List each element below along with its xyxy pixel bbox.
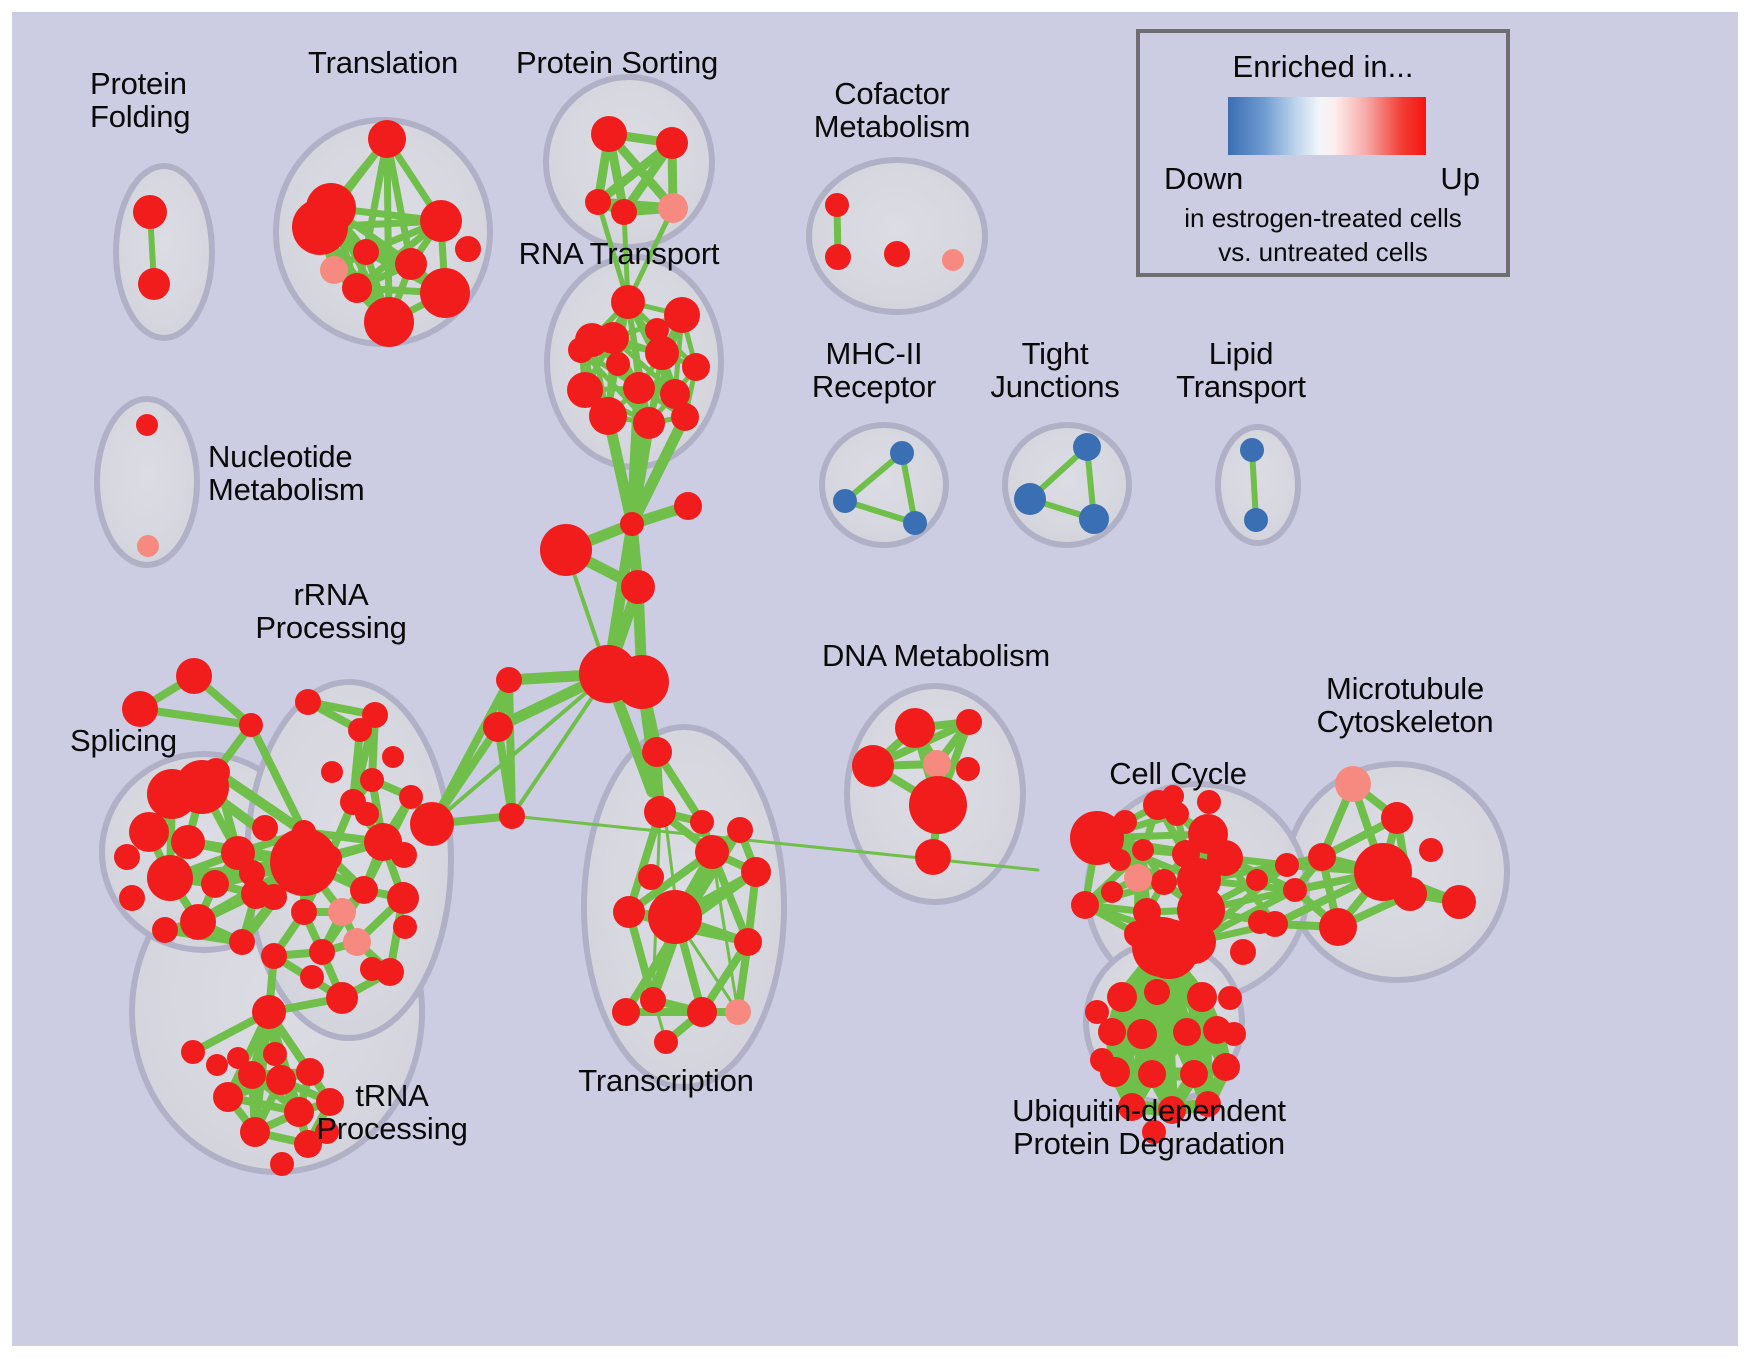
node: [252, 815, 278, 841]
node: [658, 193, 688, 223]
node: [1218, 986, 1242, 1010]
cluster-label-rna-transport: RNA Transport: [519, 237, 720, 270]
node: [915, 839, 951, 875]
node: [1275, 853, 1299, 877]
node: [1124, 864, 1152, 892]
node: [1014, 483, 1046, 515]
node: [1071, 891, 1099, 919]
node: [252, 995, 286, 1029]
node: [410, 802, 454, 846]
cluster-label-splicing: Splicing: [70, 724, 177, 757]
node: [727, 817, 753, 843]
node: [591, 116, 627, 152]
node: [640, 987, 666, 1013]
node: [137, 535, 159, 557]
node: [1101, 881, 1123, 903]
node: [1090, 1048, 1114, 1072]
node: [176, 658, 212, 694]
node: [1073, 433, 1101, 461]
node: [1144, 979, 1170, 1005]
node: [263, 1042, 287, 1066]
node: [1107, 982, 1137, 1012]
node: [1132, 917, 1192, 977]
node: [611, 199, 637, 225]
node: [656, 127, 688, 159]
node: [136, 414, 158, 436]
node: [129, 812, 169, 852]
node: [213, 1082, 243, 1112]
node: [355, 802, 379, 826]
node: [884, 241, 910, 267]
node: [455, 236, 481, 262]
node: [284, 1097, 314, 1127]
node: [1197, 790, 1221, 814]
node: [833, 489, 857, 513]
node: [612, 998, 640, 1026]
node: [152, 917, 178, 943]
node: [343, 928, 371, 956]
node: [645, 318, 669, 342]
node: [1151, 869, 1177, 895]
node: [606, 352, 630, 376]
cluster-label-dna-metabolism: DNA Metabolism: [822, 639, 1050, 672]
node: [890, 441, 914, 465]
node: [309, 939, 335, 965]
node: [664, 912, 694, 942]
node: [387, 882, 419, 914]
node: [1393, 877, 1427, 911]
node: [119, 885, 145, 911]
node: [741, 857, 771, 887]
node: [1079, 504, 1109, 534]
node: [613, 896, 645, 928]
node: [642, 737, 672, 767]
node: [1319, 908, 1357, 946]
node: [353, 239, 379, 265]
node: [391, 842, 417, 868]
node: [360, 768, 384, 792]
cluster-label-cofactor-metabolism: Cofactor Metabolism: [814, 77, 971, 144]
node: [364, 297, 414, 347]
node: [483, 712, 513, 742]
cluster-label-transcription: Transcription: [578, 1064, 753, 1097]
node: [1244, 508, 1268, 532]
node: [956, 709, 982, 735]
legend-box: Enriched in... Down Up in estrogen-treat…: [1136, 29, 1510, 277]
node: [568, 337, 594, 363]
node: [382, 746, 404, 768]
node: [1085, 1000, 1109, 1024]
node: [611, 285, 645, 319]
edges-hub-to-rrna: [432, 680, 512, 824]
node: [328, 898, 356, 926]
hull-protein-folding: [116, 166, 212, 338]
node: [360, 957, 384, 981]
node: [1127, 1019, 1157, 1049]
node: [654, 1030, 678, 1054]
node: [295, 689, 321, 715]
legend-subtitle-line2: vs. untreated cells: [1140, 237, 1506, 268]
node: [292, 199, 348, 255]
node: [1187, 982, 1217, 1012]
node: [690, 810, 714, 834]
node: [825, 244, 851, 270]
node: [227, 1047, 249, 1069]
cluster-label-protein-folding: Protein Folding: [90, 67, 190, 134]
node: [852, 745, 894, 787]
network-canvas: Protein Folding Translation Protein Sort…: [12, 12, 1738, 1346]
node: [201, 870, 229, 898]
node: [1246, 869, 1268, 891]
node: [320, 256, 348, 284]
node: [368, 120, 406, 158]
node: [1109, 849, 1131, 871]
node: [206, 1054, 228, 1076]
node: [261, 884, 287, 910]
legend-title: Enriched in...: [1140, 49, 1506, 85]
node: [133, 195, 167, 229]
node: [138, 268, 170, 300]
node: [1173, 1018, 1201, 1046]
node: [923, 750, 951, 778]
node: [1240, 438, 1264, 462]
node: [350, 876, 378, 904]
node: [734, 928, 762, 956]
node: [229, 929, 255, 955]
node: [180, 904, 216, 940]
node: [1442, 885, 1476, 919]
node: [956, 757, 980, 781]
node: [540, 524, 592, 576]
node: [1138, 1060, 1166, 1088]
node: [270, 1152, 294, 1176]
cluster-label-tight-junctions: Tight Junctions: [990, 337, 1119, 404]
node: [1113, 810, 1137, 834]
node: [1222, 1022, 1246, 1046]
node: [342, 273, 372, 303]
node: [825, 193, 849, 217]
node: [291, 899, 317, 925]
node: [1180, 1060, 1208, 1088]
node: [496, 667, 522, 693]
node: [615, 655, 669, 709]
node: [725, 999, 751, 1025]
node: [393, 915, 417, 939]
node: [114, 844, 140, 870]
legend-down-label: Down: [1164, 161, 1243, 197]
node: [1335, 766, 1371, 802]
node: [239, 860, 265, 886]
node: [499, 803, 525, 829]
node: [420, 200, 462, 242]
node: [1132, 839, 1154, 861]
node: [181, 1040, 205, 1064]
node: [623, 372, 655, 404]
node: [1419, 838, 1443, 862]
figure-root: Protein Folding Translation Protein Sort…: [0, 0, 1750, 1360]
cluster-label-mhc-ii-receptor: MHC-II Receptor: [812, 337, 936, 404]
node: [261, 943, 287, 969]
node: [175, 760, 229, 814]
node: [420, 268, 470, 318]
node: [585, 189, 611, 215]
node: [399, 785, 423, 809]
cluster-label-rrna-processing: rRNA Processing: [255, 578, 406, 645]
node: [682, 353, 710, 381]
node: [597, 322, 629, 354]
cluster-label-nucleotide-metabolism: Nucleotide Metabolism: [208, 440, 365, 507]
cluster-label-cell-cycle: Cell Cycle: [1109, 757, 1247, 790]
node: [674, 492, 702, 520]
node: [638, 864, 664, 890]
node: [266, 1065, 296, 1095]
node: [620, 512, 644, 536]
node: [664, 297, 700, 333]
node: [300, 965, 324, 989]
node: [895, 708, 935, 748]
node: [695, 835, 729, 869]
cluster-label-trna-processing: tRNA Processing: [316, 1079, 467, 1146]
cluster-label-microtubule-cytoskeleton: Microtubule Cytoskeleton: [1317, 672, 1494, 739]
node: [321, 761, 343, 783]
node: [589, 397, 627, 435]
node: [1381, 802, 1413, 834]
legend-colorbar: [1228, 97, 1426, 155]
node: [395, 248, 427, 280]
node: [1283, 878, 1307, 902]
node: [147, 855, 193, 901]
node: [633, 407, 665, 439]
legend-up-label: Up: [1440, 161, 1480, 197]
node: [942, 249, 964, 271]
node: [621, 570, 655, 604]
node: [1262, 911, 1288, 937]
node: [171, 825, 205, 859]
hull-mhc-ii-receptor: [822, 425, 946, 545]
node: [644, 796, 676, 828]
cluster-label-protein-sorting: Protein Sorting: [516, 46, 718, 79]
node: [1212, 1053, 1240, 1081]
cluster-label-translation: Translation: [308, 46, 458, 79]
node: [348, 718, 372, 742]
node: [326, 982, 358, 1014]
node: [239, 713, 263, 737]
legend-subtitle-line1: in estrogen-treated cells: [1140, 203, 1506, 234]
node: [122, 691, 158, 727]
node: [687, 997, 717, 1027]
node: [1308, 843, 1336, 871]
node: [671, 403, 699, 431]
node: [1230, 939, 1256, 965]
node: [240, 1117, 270, 1147]
cluster-label-lipid-transport: Lipid Transport: [1176, 337, 1306, 404]
node: [645, 336, 679, 370]
node: [909, 776, 967, 834]
node: [903, 511, 927, 535]
cluster-label-ubiquitin-protein-degradation: Ubiquitin-dependent Protein Degradation: [1012, 1094, 1286, 1161]
